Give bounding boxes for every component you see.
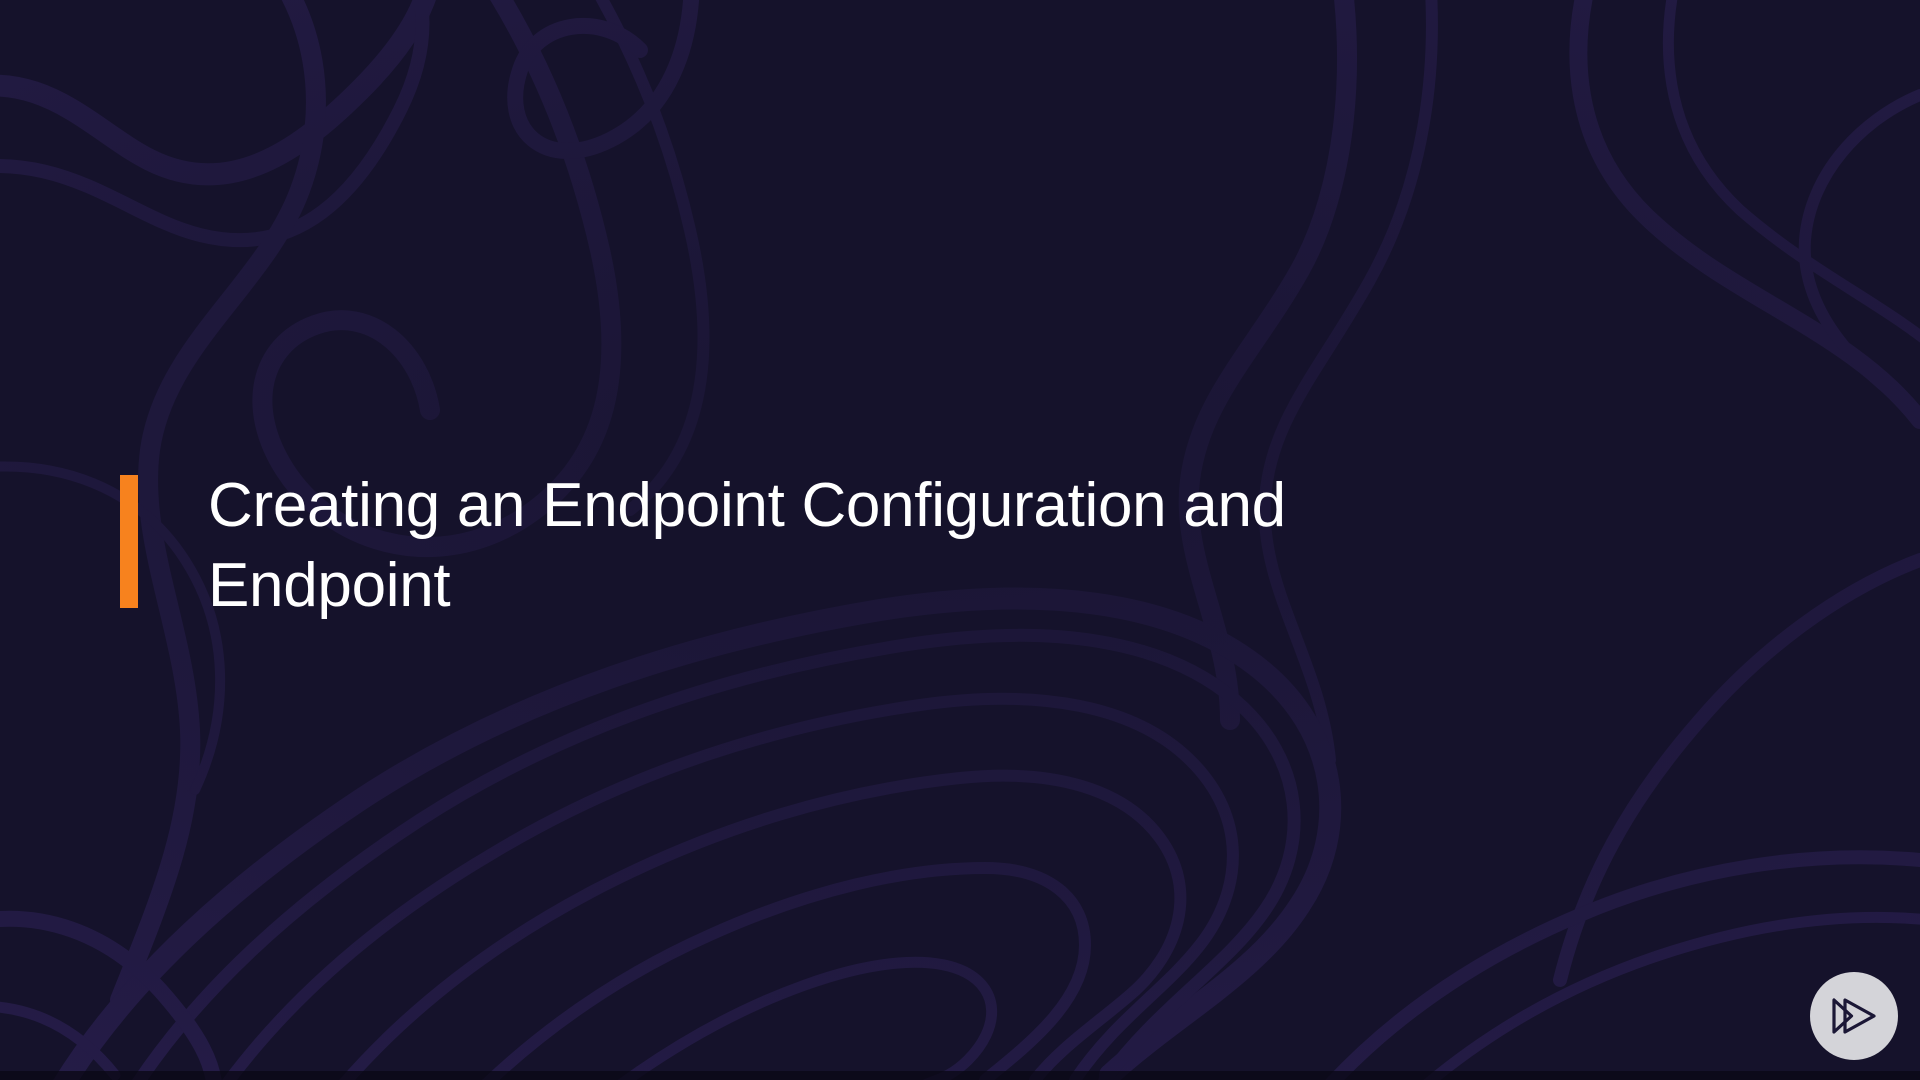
- presentation-slide: Creating an Endpoint Configuration and E…: [0, 0, 1920, 1080]
- slide-title-block: Creating an Endpoint Configuration and E…: [120, 466, 1286, 626]
- slide-title: Creating an Endpoint Configuration and E…: [208, 466, 1286, 626]
- double-play-triangle-logo-icon: [1829, 994, 1879, 1038]
- accent-bar: [120, 475, 138, 608]
- brand-watermark-badge[interactable]: [1810, 972, 1898, 1060]
